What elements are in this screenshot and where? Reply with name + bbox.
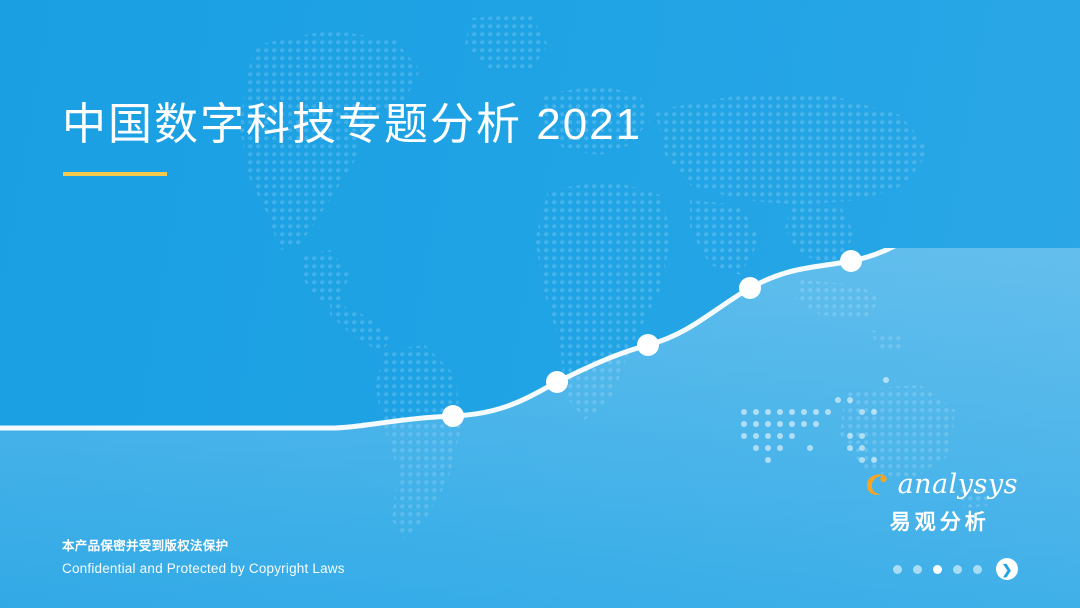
pager[interactable]: ❯ <box>893 558 1018 580</box>
brand-logo-name: analysys <box>898 471 1018 498</box>
footer-notice-en: Confidential and Protected by Copyright … <box>62 561 345 576</box>
footer-notice: 本产品保密并受到版权法保护 Confidential and Protected… <box>62 535 345 576</box>
brand-logo-row: analysys <box>862 469 1018 499</box>
next-slide-icon[interactable]: ❯ <box>996 558 1018 580</box>
pager-dot-2[interactable] <box>913 565 922 574</box>
pager-dot-4[interactable] <box>953 565 962 574</box>
pager-dot-5[interactable] <box>973 565 982 574</box>
page-title: 中国数字科技专题分析 2021 <box>62 88 642 152</box>
pager-dot-3[interactable] <box>933 565 942 574</box>
brand-logo-cn: 易观分析 <box>862 506 1018 536</box>
pager-dot-1[interactable] <box>893 565 902 574</box>
brand-logo: analysys 易观分析 <box>862 469 1018 536</box>
analysys-swirl-icon <box>862 469 892 499</box>
slide-root: 中国数字科技专题分析 2021 本产品保密并受到版权法保护 Confidenti… <box>0 0 1080 608</box>
footer-notice-cn: 本产品保密并受到版权法保护 <box>62 535 345 554</box>
title-underline-rule <box>63 172 167 176</box>
